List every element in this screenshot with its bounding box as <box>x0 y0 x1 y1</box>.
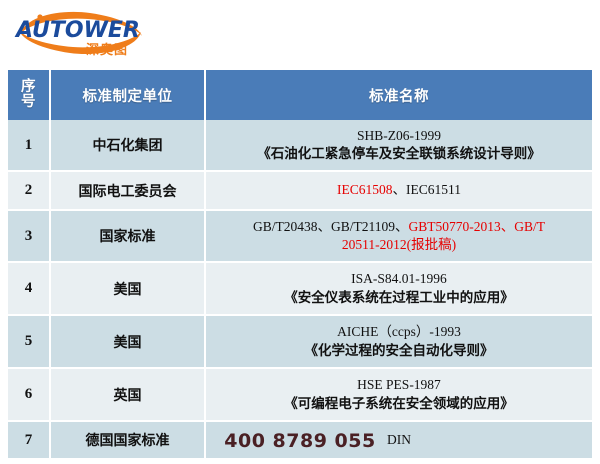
standard-title: 《化学过程的安全自动化导则》 <box>210 342 588 360</box>
logo-dot-icon <box>37 14 42 19</box>
standard-title: 《可编程电子系统在安全领域的应用》 <box>210 395 588 413</box>
standard-code-plain: 、IEC61511 <box>393 182 462 197</box>
header-organization: 标准制定单位 <box>50 70 205 120</box>
cell-organization: 国际电工委员会 <box>50 171 205 210</box>
header-index: 序 号 <box>8 70 50 120</box>
cell-index: 4 <box>8 262 50 315</box>
standard-code: SHB-Z06-1999 <box>210 127 588 145</box>
cell-organization: 美国 <box>50 315 205 368</box>
standard-code-highlighted: IEC61508 <box>337 182 393 197</box>
table-row: 1 中石化集团 SHB-Z06-1999 《石油化工紧急停车及安全联锁系统设计导… <box>8 120 592 171</box>
table-row: 4 美国 ISA-S84.01-1996 《安全仪表系统在过程工业中的应用》 <box>8 262 592 315</box>
contact-phone-number: 400 8789 055 <box>0 430 600 452</box>
cell-organization: 国家标准 <box>50 210 205 262</box>
table-row: 3 国家标准 GB/T20438、GB/T21109、GBT50770-2013… <box>8 210 592 262</box>
table-header-row: 序 号 标准制定单位 标准名称 <box>8 70 592 120</box>
standards-table: 序 号 标准制定单位 标准名称 1 中石化集团 SHB-Z06-1999 《石油… <box>8 70 592 460</box>
standard-code-plain: GB/T20438、GB/T21109、 <box>253 219 409 234</box>
cell-organization: 美国 <box>50 262 205 315</box>
cell-standard-name: HSE PES-1987 《可编程电子系统在安全领域的应用》 <box>205 368 592 421</box>
cell-index: 3 <box>8 210 50 262</box>
standard-title: 《石油化工紧急停车及安全联锁系统设计导则》 <box>210 145 588 163</box>
logo-chinese-name: 深奥图 <box>86 42 128 58</box>
standard-code: AICHE（ccps）-1993 <box>210 323 588 341</box>
cell-standard-name: SHB-Z06-1999 《石油化工紧急停车及安全联锁系统设计导则》 <box>205 120 592 171</box>
cell-index: 2 <box>8 171 50 210</box>
standard-code: HSE PES-1987 <box>210 376 588 394</box>
logo-graphic: AUTOWER 深奥图 <box>8 4 158 62</box>
cell-standard-name: GB/T20438、GB/T21109、GBT50770-2013、GB/T 2… <box>205 210 592 262</box>
company-logo: AUTOWER 深奥图 <box>8 4 158 62</box>
cell-organization: 中石化集团 <box>50 120 205 171</box>
table-row: 5 美国 AICHE（ccps）-1993 《化学过程的安全自动化导则》 <box>8 315 592 368</box>
standard-code-highlighted-2: 20511-2012(报批稿) <box>210 236 588 254</box>
standard-code: ISA-S84.01-1996 <box>210 270 588 288</box>
header-index-line2: 号 <box>9 95 48 110</box>
cell-standard-name: IEC61508、IEC61511 <box>205 171 592 210</box>
cell-index: 6 <box>8 368 50 421</box>
table-row: 6 英国 HSE PES-1987 《可编程电子系统在安全领域的应用》 <box>8 368 592 421</box>
cell-index: 1 <box>8 120 50 171</box>
cell-organization: 英国 <box>50 368 205 421</box>
cell-standard-name: AICHE（ccps）-1993 《化学过程的安全自动化导则》 <box>205 315 592 368</box>
cell-index: 5 <box>8 315 50 368</box>
header-standard-name: 标准名称 <box>205 70 592 120</box>
logo-wordmark: AUTOWER <box>14 18 140 43</box>
cell-standard-name: ISA-S84.01-1996 《安全仪表系统在过程工业中的应用》 <box>205 262 592 315</box>
header-index-line1: 序 <box>9 80 48 95</box>
standard-title: 《安全仪表系统在过程工业中的应用》 <box>210 289 588 307</box>
table-row: 2 国际电工委员会 IEC61508、IEC61511 <box>8 171 592 210</box>
standard-code-highlighted: GBT50770-2013、GB/T <box>409 219 546 234</box>
